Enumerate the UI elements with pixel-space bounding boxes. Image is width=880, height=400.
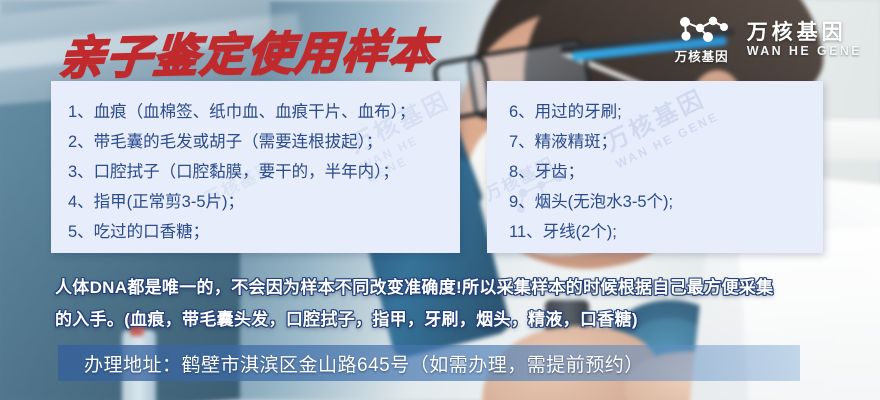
sample-list-right: 6、用过的牙刷; 7、精液精斑； 8、牙齿； 9、烟头(无泡水3-5个); 11…	[487, 81, 823, 247]
logo-name-en: WAN HE GENE	[747, 44, 862, 58]
list-item: 2、带毛囊的毛发或胡子（需要连根拔起）；	[68, 127, 460, 157]
description-line-1: 人体DNA都是唯一的，不会因为样本不同改变准确度!所以采集样本的时候根据自己最方…	[55, 272, 845, 304]
logo-mark-label: 万核基因	[675, 46, 729, 65]
list-item: 7、精液精斑；	[509, 127, 823, 157]
list-item: 3、口腔拭子（口腔黏膜，要干的，半年内）；	[68, 157, 460, 187]
sample-list-panel-right: 万核基因 WAN HE GENE 万核基因 6、用过的牙刷; 7、精液精斑； 8…	[487, 81, 823, 253]
page-title: 亲子鉴定使用样本	[57, 14, 439, 87]
logo-wordmark: 万核基因 WAN HE GENE	[747, 21, 862, 58]
list-item: 1、血痕（血棉签、纸巾血、血痕干片、血布）；	[68, 97, 460, 127]
description-text: 人体DNA都是唯一的，不会因为样本不同改变准确度!所以采集样本的时候根据自己最方…	[55, 272, 845, 336]
logo-name-cn: 万核基因	[747, 21, 862, 44]
list-item: 4、指甲(正常剪3-5片)；	[68, 187, 460, 217]
sample-list-left: 1、血痕（血棉签、纸巾血、血痕干片、血布）； 2、带毛囊的毛发或胡子（需要连根拔…	[51, 81, 460, 247]
address-bar: 办理地址：鹤壁市淇滨区金山路645号（如需办理，需提前预约）	[58, 345, 800, 381]
address-text: 办理地址：鹤壁市淇滨区金山路645号（如需办理，需提前预约）	[58, 350, 644, 377]
sample-list-panel-left: 万核基因 WAN HE GENE 万核基因 1、血痕（血棉签、纸巾血、血痕干片、…	[51, 81, 460, 253]
molecule-icon	[673, 14, 731, 44]
list-item: 6、用过的牙刷;	[509, 97, 823, 127]
list-item: 8、牙齿；	[509, 157, 823, 187]
description-line-2: 的入手。(血痕，带毛囊头发，口腔拭子，指甲，牙刷，烟头，精液，口香糖)	[55, 304, 845, 336]
list-item: 9、烟头(无泡水3-5个);	[509, 187, 823, 217]
list-item: 5、吃过的口香糖；	[68, 217, 460, 247]
brand-logo: 万核基因 万核基因 WAN HE GENE	[673, 14, 862, 65]
list-item: 11、牙线(2个);	[509, 217, 823, 247]
logo-mark: 万核基因	[673, 14, 731, 65]
